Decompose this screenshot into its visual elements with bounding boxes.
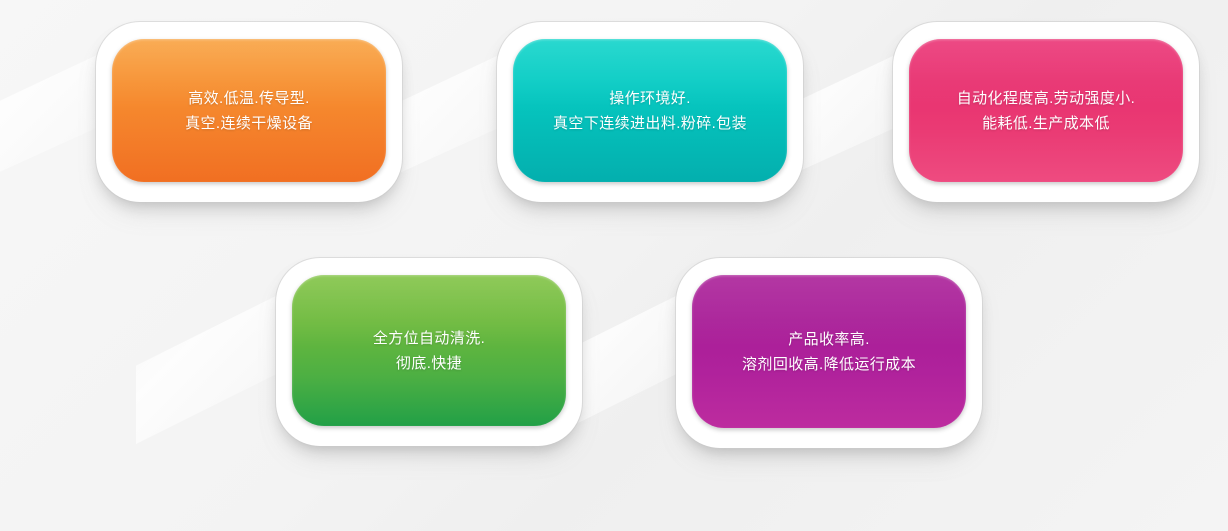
auto-cleaning-card-text: 全方位自动清洗. 彻底.快捷 xyxy=(373,326,485,376)
automation-card-panel: 自动化程度高.劳动强度小. 能耗低.生产成本低 xyxy=(909,39,1183,182)
automation-card-text: 自动化程度高.劳动强度小. 能耗低.生产成本低 xyxy=(957,86,1136,136)
product-yield-card[interactable]: 产品收率高. 溶剂回收高.降低运行成本 xyxy=(676,258,982,448)
auto-cleaning-card[interactable]: 全方位自动清洗. 彻底.快捷 xyxy=(276,258,582,446)
feature-card-stage: 高效.低温.传导型. 真空.连续干燥设备 操作环境好. 真空下连续进出料.粉碎.… xyxy=(0,0,1228,531)
automation-card[interactable]: 自动化程度高.劳动强度小. 能耗低.生产成本低 xyxy=(893,22,1199,202)
efficiency-card[interactable]: 高效.低温.传导型. 真空.连续干燥设备 xyxy=(96,22,402,202)
operating-environment-card[interactable]: 操作环境好. 真空下连续进出料.粉碎.包装 xyxy=(497,22,803,202)
efficiency-card-text: 高效.低温.传导型. 真空.连续干燥设备 xyxy=(185,86,313,136)
auto-cleaning-card-panel: 全方位自动清洗. 彻底.快捷 xyxy=(292,275,566,426)
product-yield-card-text: 产品收率高. 溶剂回收高.降低运行成本 xyxy=(742,327,916,377)
operating-environment-card-panel: 操作环境好. 真空下连续进出料.粉碎.包装 xyxy=(513,39,787,182)
operating-environment-card-text: 操作环境好. 真空下连续进出料.粉碎.包装 xyxy=(553,86,747,136)
efficiency-card-panel: 高效.低温.传导型. 真空.连续干燥设备 xyxy=(112,39,386,182)
product-yield-card-panel: 产品收率高. 溶剂回收高.降低运行成本 xyxy=(692,275,966,428)
